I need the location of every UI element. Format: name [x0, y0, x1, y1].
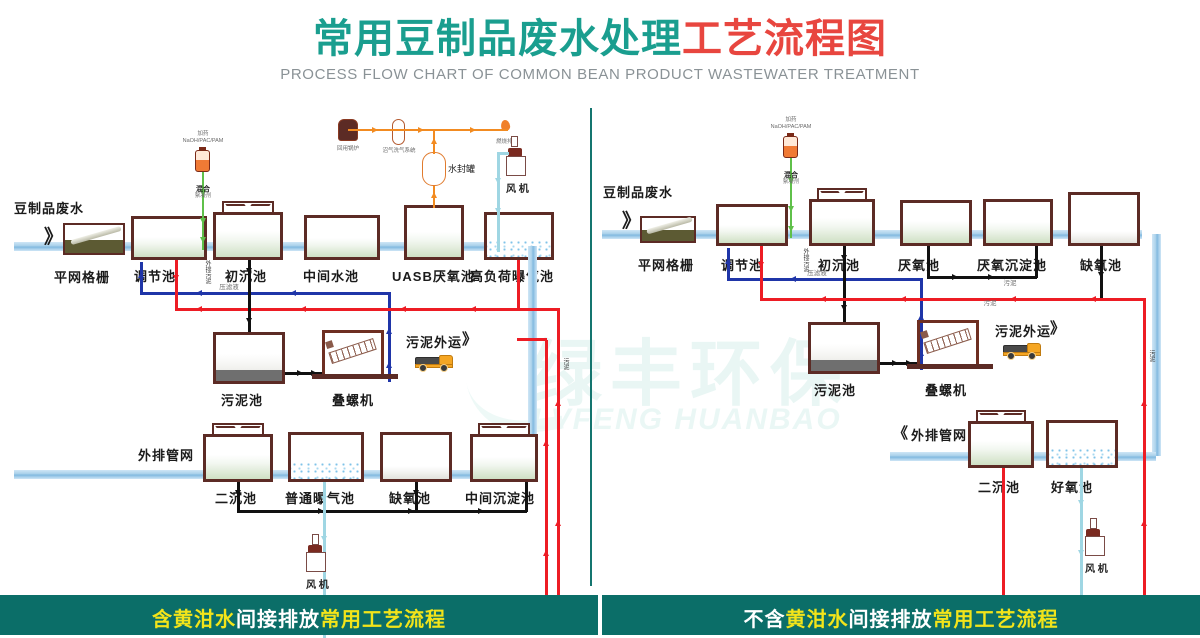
right-unit-anoxic-tank [1068, 192, 1140, 246]
biogas-flow-arrow [470, 127, 476, 133]
right-unit-label-aerobic: 好氧池 [1051, 477, 1093, 496]
left-unit-primary-clarifier [213, 212, 283, 260]
tank-water [206, 455, 270, 479]
truck-wheel [440, 364, 448, 372]
left-unit-uasb [404, 205, 464, 260]
tank-sludge-bed [811, 360, 877, 371]
press-motor-icon [920, 330, 929, 339]
truck-wheel [419, 364, 427, 372]
right-unit-label-sludge-tank: 污泥池 [814, 380, 856, 399]
page-title-green: 常用豆制品废水处理 [313, 17, 682, 61]
right-unit-primary-clarifier [809, 199, 875, 246]
right-caption-part1: 黄泔水 [786, 609, 849, 631]
chemical-flow-arrow [788, 226, 794, 232]
right-caption-part2: 间接排放 [849, 609, 933, 631]
right-secondary-clarifier-bridge-icon [976, 410, 1026, 421]
left-unit-label-intermediate: 中间水池 [303, 266, 359, 285]
sludge-flow-arrow [470, 306, 476, 312]
press-screw-drum-icon [924, 328, 972, 354]
left-unit-screw-press [322, 330, 384, 375]
biogas-flow-arrow [372, 127, 378, 133]
right-sludge-mid-label: 污泥 [1000, 280, 1020, 287]
left-unit-equalization-tank [131, 216, 207, 260]
tank-water [383, 466, 449, 479]
press-frame-right [976, 320, 979, 365]
press-frame-left [917, 320, 920, 365]
left-external-sludge-label: 外排污泥 [203, 260, 212, 294]
ras-flow-arrow [478, 508, 484, 514]
left-secondary-clarifier-bridge-icon [212, 423, 264, 434]
left-filtrate-line-h [140, 292, 390, 295]
right-unit-label-anaerobic: 厌氧池 [898, 255, 940, 274]
left-unit-intermediate-tank [304, 215, 380, 260]
right-sludge-line-v-right [1143, 298, 1146, 608]
right-sludge-long-label: 污泥 [980, 300, 1000, 307]
left-sludge-out-label: 污泥外运 [406, 332, 462, 351]
page-subtitle: PROCESS FLOW CHART OF COMMON BEAN PRODUC… [0, 66, 1200, 83]
solids-flow-arrow [952, 274, 958, 280]
right-filtrate-line-v1 [727, 248, 730, 280]
right-unit-aerobic-tank [1046, 420, 1118, 468]
chemical-flow-arrow [200, 218, 206, 224]
right-unit-anaerobic-clarifier [983, 199, 1053, 246]
left-unit-label-sludge-tank: 污泥池 [221, 390, 263, 409]
right-unit-screw-press [917, 320, 979, 365]
left-scrubber-label: 沼气洗气系统 [378, 148, 420, 155]
left-sludge-line-v-eq [175, 260, 178, 310]
tank-water [719, 225, 785, 243]
tank-water [812, 218, 872, 243]
right-sludge-line-v-eq [760, 246, 763, 300]
press-frame-top [917, 320, 979, 323]
filtrate-flow-arrow [386, 328, 392, 334]
left-unit-label-screw-press: 叠螺机 [332, 390, 374, 409]
left-unit-standard-aeration [288, 432, 364, 482]
tank-water [473, 457, 535, 479]
sludge-flow-arrow [196, 306, 202, 312]
right-caption-part0: 不含 [744, 609, 786, 631]
right-outlet-chevron: 《 [893, 422, 908, 443]
chemical-flow-arrow [788, 206, 794, 212]
air-flow-arrow [321, 536, 327, 542]
sludge-flow-arrow [1141, 400, 1147, 406]
left-inlet-chevron: 》 [44, 222, 63, 249]
right-panel-caption-bar: 不含黄泔水间接排放常用工艺流程 [602, 595, 1200, 635]
left-blower-top-stack-icon [511, 136, 518, 147]
left-unit-label-high-load-aeration: 高负荷曝气池 [470, 266, 554, 285]
left-sludge-line-v-right [557, 308, 560, 626]
left-sludge-truck-icon [415, 352, 453, 372]
left-dosing-title: 加药 [190, 131, 216, 138]
left-inlet-label: 豆制品废水 [14, 198, 84, 217]
ras-flow-arrow [413, 490, 419, 496]
left-sealpot-label: 水封罐 [448, 162, 475, 175]
flowchart-page: 常用豆制品废水处理工艺流程图 PROCESS FLOW CHART OF COM… [0, 0, 1200, 635]
watermark-english: LVFENG HUANBAO [532, 403, 842, 437]
tank-water [986, 222, 1050, 243]
page-title-red: 工艺流程图 [682, 17, 887, 61]
left-blower-bottom-label: 风 机 [306, 576, 329, 591]
left-water-seal-pot-icon [422, 152, 446, 186]
left-blower-top-body-icon [506, 156, 526, 176]
left-air-line-top-h [497, 152, 509, 155]
sludge-flow-arrow [1141, 520, 1147, 526]
sludge-flow-arrow [1010, 296, 1016, 302]
left-dosing-tank-icon [195, 150, 210, 172]
left-sludge-right-label: 污泥 [561, 358, 570, 380]
sludge-flow-arrow [400, 306, 406, 312]
left-outlet-label: 外排管网 [138, 445, 194, 464]
sludge-flow-arrow [555, 520, 561, 526]
right-unit-sludge-tank [808, 322, 880, 374]
sludge-flow-arrow [1090, 296, 1096, 302]
right-unit-secondary-clarifier [968, 421, 1034, 468]
right-water-riser [1152, 234, 1161, 456]
left-biogas-scrubber-icon [392, 119, 405, 145]
left-filtrate-line-v1 [140, 262, 143, 294]
page-header: 常用豆制品废水处理工艺流程图 PROCESS FLOW CHART OF COM… [0, 0, 1200, 100]
sludge-flow-arrow [300, 306, 306, 312]
solids-flow-arrow [246, 268, 252, 274]
right-outlet-label: 外排管网 [911, 425, 967, 444]
left-blower-bottom-body-icon [306, 552, 326, 572]
right-dosing-chems: NaOH/PAC/PAM [768, 124, 814, 131]
right-inlet-chevron: 》 [622, 206, 641, 233]
left-air-line-top [497, 152, 500, 252]
right-unit-label-secondary-clarifier: 二沉池 [978, 477, 1020, 496]
tank-water [971, 441, 1031, 465]
air-flow-arrow [1078, 550, 1084, 556]
tank-water [134, 237, 204, 257]
right-sludge-truck-icon [1003, 340, 1041, 360]
right-panel-caption: 不含黄泔水间接排放常用工艺流程 [602, 603, 1200, 632]
tank-water [903, 221, 969, 243]
chemical-flow-arrow [200, 237, 206, 243]
right-unit-label-flat-screen: 平网格栅 [638, 255, 694, 274]
tank-water [216, 231, 280, 257]
left-sludge-line-v-right2 [545, 340, 548, 626]
left-ras-v-interclarifier [525, 482, 528, 512]
right-blower-body-icon [1085, 536, 1105, 556]
tank-water-aerated [1049, 447, 1115, 465]
solids-flow-arrow [841, 305, 847, 311]
biogas-flow-arrow [431, 138, 437, 144]
right-sludge-right-label: 污泥 [1147, 350, 1156, 372]
right-sludge-out-label: 污泥外运 [995, 321, 1051, 340]
press-base [907, 364, 993, 369]
left-unit-high-load-aeration [484, 212, 554, 260]
press-frame-top [322, 330, 384, 333]
right-inlet-label: 豆制品废水 [603, 182, 673, 201]
tank-sludge-bed [216, 370, 282, 381]
right-filtrate-label: 压滤液 [806, 270, 828, 277]
left-unit-label-flat-screen: 平网格栅 [54, 267, 110, 286]
solids-flow-arrow [988, 274, 994, 280]
left-intermediate-clarifier-bridge-icon [478, 423, 530, 434]
tank-water [1071, 231, 1137, 243]
filtrate-flow-arrow [790, 276, 796, 282]
truck-wheel [1007, 352, 1015, 360]
sludge-flow-arrow [820, 296, 826, 302]
press-frame-left [322, 330, 325, 375]
truck-wheel [1028, 352, 1036, 360]
watermark-chinese: 绿丰环保 [530, 315, 850, 420]
filtrate-flow-arrow [725, 258, 731, 264]
sludge-flow-arrow [173, 275, 179, 281]
right-dosing-title: 加药 [778, 117, 804, 124]
air-flow-arrow [495, 208, 501, 214]
right-unit-anaerobic-tank [900, 200, 972, 246]
right-caption-part3: 常用工艺流程 [933, 609, 1059, 631]
left-blower-bottom-stack-icon [312, 534, 319, 545]
right-mix-sub: 絮凝剂 [780, 179, 802, 186]
left-sludge-out-chevron: 》 [462, 328, 477, 349]
press-frame-right [381, 330, 384, 375]
filtrate-flow-arrow [138, 272, 144, 278]
left-caption-part3: 常用工艺流程 [320, 609, 446, 631]
filtrate-flow-arrow [386, 362, 392, 368]
left-unit-sludge-tank [213, 332, 285, 384]
filtrate-flow-arrow [196, 290, 202, 296]
right-anaerobic-solids-h [927, 276, 1037, 279]
right-mix-label: 混合 [782, 172, 800, 179]
right-anaerobic-solids-v1 [927, 246, 930, 278]
air-flow-arrow [321, 496, 327, 502]
tank-water [407, 232, 461, 257]
left-unit-intermediate-clarifier [470, 434, 538, 482]
filtrate-flow-arrow [290, 290, 296, 296]
left-sludge-from-aeration [517, 260, 520, 308]
solids-flow-arrow [1098, 272, 1104, 278]
tank-water-aerated [291, 461, 361, 479]
left-dosing-chems: NaOH/PAC/PAM [180, 138, 226, 145]
left-sludge-spur-h [517, 338, 547, 341]
left-mix-sub: 絮凝剂 [192, 193, 214, 200]
tank-water [307, 238, 377, 257]
right-unit-equalization-tank [716, 204, 788, 246]
sludge-flow-arrow [543, 550, 549, 556]
press-motor-icon [325, 340, 334, 349]
page-title: 常用豆制品废水处理工艺流程图 [0, 16, 1200, 62]
left-filtrate-label: 压滤液 [218, 284, 240, 291]
solids-flow-arrow [841, 255, 847, 261]
sludge-flow-arrow [758, 262, 764, 268]
ras-flow-arrow [235, 490, 241, 496]
right-dosing-tank-icon [783, 136, 798, 158]
press-base [312, 374, 398, 379]
solids-flow-arrow [297, 370, 303, 376]
solids-flow-arrow [892, 360, 898, 366]
press-screw-drum-icon [329, 338, 377, 364]
panel-divider [590, 108, 592, 586]
right-blower-label: 风 机 [1085, 560, 1108, 575]
left-flare-label: 燃烧排放 [490, 139, 524, 146]
solids-flow-arrow [246, 318, 252, 324]
left-panel-caption-bar: 含黄泔水间接排放常用工艺流程 [0, 595, 598, 635]
left-caption-part1: 含黄泔水 [152, 609, 236, 631]
sludge-flow-arrow [543, 440, 549, 446]
left-unit-anoxic-tank [380, 432, 452, 482]
ras-flow-arrow [408, 508, 414, 514]
left-filtrate-line-v2 [388, 292, 391, 382]
left-primary-clarifier-bridge-icon [222, 201, 274, 212]
left-ras-v-clarifier2 [237, 482, 240, 512]
air-flow-arrow [495, 178, 501, 184]
left-mix-label: 混合 [194, 186, 212, 193]
left-unit-label-anoxic: 缺氧池 [389, 488, 431, 507]
right-sludge-out-chevron: 》 [1050, 317, 1065, 338]
sludge-flow-arrow [900, 296, 906, 302]
right-filtrate-line-h [727, 278, 922, 281]
right-sludge-line-main-h [760, 298, 1145, 301]
left-caption-part2: 间接排放 [236, 609, 320, 631]
left-ras-v-anoxic [415, 482, 418, 512]
left-unit-label-uasb: UASB厌氧池 [392, 266, 475, 285]
left-sludge-line-main-h [175, 308, 560, 311]
air-flow-arrow [1078, 500, 1084, 506]
right-ras-v-clarifier [1002, 468, 1005, 608]
sludge-flow-arrow [555, 400, 561, 406]
biogas-flow-arrow [431, 192, 437, 198]
biogas-flow-arrow [418, 127, 424, 133]
left-panel-caption: 含黄泔水间接排放常用工艺流程 [0, 603, 598, 632]
left-boiler-label: 回用锅炉 [330, 146, 366, 153]
right-primary-clarifier-bridge-icon [817, 188, 867, 199]
right-unit-label-screw-press: 叠螺机 [925, 380, 967, 399]
diagram-canvas: 绿丰环保 LVFENG HUANBAO 豆制品废水 》 平网格栅 调节池 加药 … [0, 100, 1200, 595]
left-unit-secondary-clarifier [203, 434, 273, 482]
right-anaerobic-solids-v2 [1035, 246, 1038, 278]
right-blower-stack-icon [1090, 518, 1097, 529]
left-blower-top-label: 风 机 [506, 180, 529, 195]
